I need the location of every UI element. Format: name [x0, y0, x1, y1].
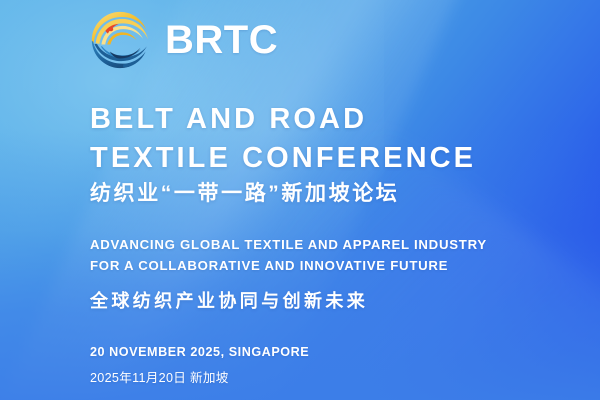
conference-poster: BRTC BELT AND ROAD TEXTILE CONFERENCE 纺织… — [0, 0, 600, 400]
brtc-logo-icon — [88, 8, 152, 72]
page-title: BELT AND ROAD TEXTILE CONFERENCE — [90, 100, 476, 177]
brand-lockup: BRTC — [88, 8, 278, 72]
headline-line-2: TEXTILE CONFERENCE — [90, 139, 476, 178]
theme-chinese: 全球纺织产业协同与创新未来 — [90, 290, 368, 313]
event-date-chinese: 2025年11月20日 新加坡 — [90, 370, 309, 386]
event-date-english: 20 NOVEMBER 2025, SINGAPORE — [90, 344, 309, 360]
poster-content: BRTC BELT AND ROAD TEXTILE CONFERENCE 纺织… — [0, 0, 600, 400]
tagline-line-2: FOR A COLLABORATIVE AND INNOVATIVE FUTUR… — [90, 255, 487, 276]
event-details: 20 NOVEMBER 2025, SINGAPORE 2025年11月20日 … — [90, 344, 309, 387]
headline-chinese: 纺织业“一带一路”新加坡论坛 — [90, 181, 399, 207]
tagline-line-1: ADVANCING GLOBAL TEXTILE AND APPAREL IND… — [90, 234, 487, 255]
headline-line-1: BELT AND ROAD — [90, 100, 476, 139]
tagline: ADVANCING GLOBAL TEXTILE AND APPAREL IND… — [90, 234, 487, 277]
brand-wordmark: BRTC — [165, 20, 278, 60]
